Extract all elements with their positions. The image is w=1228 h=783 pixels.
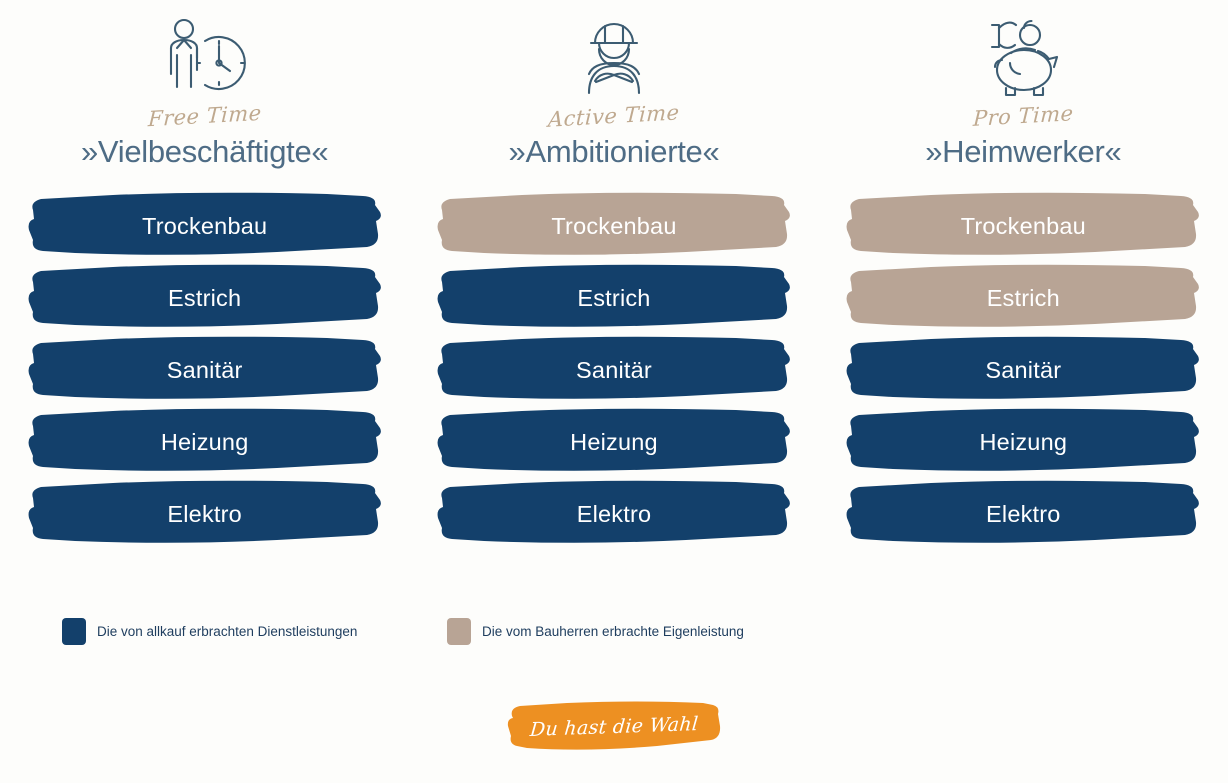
legend-swatch-navy — [62, 618, 86, 645]
bar-heizung[interactable]: Heizung — [27, 406, 383, 478]
column-header-1: Free Time »Vielbeschäftigte« — [0, 0, 409, 190]
bar-list-3: Trockenbau Estrich Sanitär Heizung — [819, 190, 1228, 550]
column-title: »Ambitionierte« — [509, 134, 720, 170]
bar-trockenbau[interactable]: Trockenbau — [436, 190, 792, 262]
column-script-label: Pro Time — [973, 103, 1074, 130]
legend-item-allkauf: Die von allkauf erbrachten Dienstleistun… — [62, 618, 447, 645]
bar-label: Sanitär — [576, 357, 652, 384]
bar-sanitaer[interactable]: Sanitär — [27, 334, 383, 406]
bar-label: Elektro — [577, 501, 652, 528]
legend-swatch-taupe — [447, 618, 471, 645]
bar-estrich[interactable]: Estrich — [436, 262, 792, 334]
column-script-label: Active Time — [548, 102, 680, 130]
bar-heizung[interactable]: Heizung — [845, 406, 1201, 478]
bar-estrich[interactable]: Estrich — [27, 262, 383, 334]
bar-sanitaer[interactable]: Sanitär — [845, 334, 1201, 406]
column-header-3: Pro Time »Heimwerker« — [819, 0, 1228, 190]
bar-label: Elektro — [167, 501, 242, 528]
persona-column-1: Free Time »Vielbeschäftigte« Trockenbau … — [0, 0, 409, 550]
legend: Die von allkauf erbrachten Dienstleistun… — [0, 618, 1228, 645]
bar-label: Heizung — [161, 429, 249, 456]
bar-sanitaer[interactable]: Sanitär — [436, 334, 792, 406]
bar-label: Trockenbau — [551, 213, 676, 240]
bar-label: Trockenbau — [961, 213, 1086, 240]
bar-label: Sanitär — [985, 357, 1061, 384]
piggy-bank-coin-icon — [980, 10, 1066, 102]
bar-elektro[interactable]: Elektro — [436, 478, 792, 550]
persona-column-3: Pro Time »Heimwerker« Trockenbau Estrich — [819, 0, 1228, 550]
person-clock-icon — [159, 10, 251, 102]
bar-list-1: Trockenbau Estrich Sanitär Heizung — [0, 190, 409, 550]
badge-container: Du hast die Wahl — [0, 700, 1228, 754]
column-title: »Vielbeschäftigte« — [81, 134, 328, 170]
bar-heizung[interactable]: Heizung — [436, 406, 792, 478]
bar-label: Estrich — [987, 285, 1060, 312]
persona-column-2: Active Time »Ambitionierte« Trockenbau E… — [409, 0, 818, 550]
column-title: »Heimwerker« — [925, 134, 1121, 170]
bar-label: Elektro — [986, 501, 1061, 528]
bar-trockenbau[interactable]: Trockenbau — [845, 190, 1201, 262]
legend-label: Die von allkauf erbrachten Dienstleistun… — [97, 624, 357, 639]
bar-list-2: Trockenbau Estrich Sanitär Heizung — [409, 190, 818, 550]
du-hast-die-wahl-badge[interactable]: Du hast die Wahl — [507, 700, 721, 754]
bar-elektro[interactable]: Elektro — [845, 478, 1201, 550]
bar-label: Heizung — [980, 429, 1068, 456]
bar-estrich[interactable]: Estrich — [845, 262, 1201, 334]
bar-label: Estrich — [168, 285, 241, 312]
persona-columns: Free Time »Vielbeschäftigte« Trockenbau … — [0, 0, 1228, 550]
bar-trockenbau[interactable]: Trockenbau — [27, 190, 383, 262]
bar-label: Estrich — [577, 285, 650, 312]
legend-item-bauherr: Die vom Bauherren erbrachte Eigenleistun… — [447, 618, 744, 645]
legend-label: Die vom Bauherren erbrachte Eigenleistun… — [482, 624, 744, 639]
bar-label: Trockenbau — [142, 213, 267, 240]
bar-label: Sanitär — [167, 357, 243, 384]
column-script-label: Free Time — [147, 103, 262, 130]
column-header-2: Active Time »Ambitionierte« — [409, 0, 818, 190]
bar-elektro[interactable]: Elektro — [27, 478, 383, 550]
worker-helmet-icon — [575, 10, 653, 102]
bar-label: Heizung — [570, 429, 658, 456]
